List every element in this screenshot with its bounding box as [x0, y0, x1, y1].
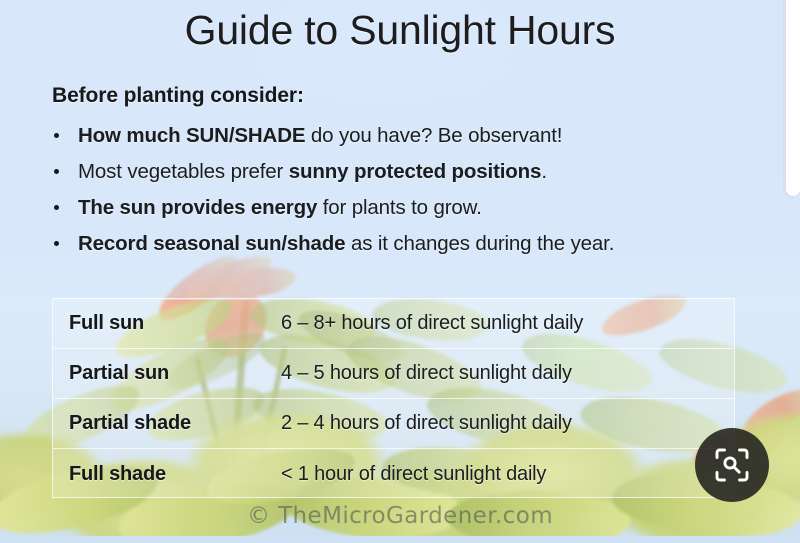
bullet-pre: Most vegetables prefer	[78, 160, 289, 183]
list-item: Record seasonal sun/shade as it changes …	[52, 226, 752, 262]
bullet-rest: do you have? Be observant!	[305, 124, 562, 147]
table-cell-label: Partial sun	[53, 362, 281, 385]
google-lens-icon	[713, 446, 751, 484]
list-item: Most vegetables prefer sunny protected p…	[52, 154, 752, 190]
background-card-sliver	[786, 0, 800, 196]
bullet-bold-lead: The sun provides energy	[78, 196, 317, 219]
bullet-bold-lead: How much SUN/SHADE	[78, 124, 305, 147]
bullet-dot-icon	[54, 133, 59, 138]
table-cell-value: 4 – 5 hours of direct sunlight daily	[281, 362, 572, 385]
bullet-mid-bold: sunny protected positions	[289, 160, 542, 183]
bullet-list: How much SUN/SHADE do you have? Be obser…	[52, 118, 752, 262]
bottom-edge-strip	[0, 536, 800, 543]
table-row: Full shade < 1 hour of direct sunlight d…	[53, 449, 734, 499]
lead-text: Before planting consider:	[52, 84, 304, 108]
bullet-rest: as it changes during the year.	[345, 232, 614, 255]
table-cell-value: < 1 hour of direct sunlight daily	[281, 463, 546, 486]
sunlight-table: Full sun 6 – 8+ hours of direct sunlight…	[52, 298, 735, 498]
table-row: Full sun 6 – 8+ hours of direct sunlight…	[53, 299, 734, 349]
bullet-dot-icon	[54, 241, 59, 246]
table-cell-label: Full shade	[53, 463, 281, 486]
table-cell-value: 6 – 8+ hours of direct sunlight daily	[281, 312, 583, 335]
watermark-credit: © TheMicroGardener.com	[0, 503, 800, 529]
screenshot-root: Guide to Sunlight Hours Before planting …	[0, 0, 800, 543]
list-item: How much SUN/SHADE do you have? Be obser…	[52, 118, 752, 154]
list-item: The sun provides energy for plants to gr…	[52, 190, 752, 226]
table-cell-label: Partial shade	[53, 412, 281, 435]
table-row: Partial sun 4 – 5 hours of direct sunlig…	[53, 349, 734, 399]
bullet-rest: for plants to grow.	[317, 196, 482, 219]
bullet-bold-lead: Record seasonal sun/shade	[78, 232, 345, 255]
table-row: Partial shade 2 – 4 hours of direct sunl…	[53, 399, 734, 449]
page-title: Guide to Sunlight Hours	[0, 6, 800, 54]
table-cell-value: 2 – 4 hours of direct sunlight daily	[281, 412, 572, 435]
table-cell-label: Full sun	[53, 312, 281, 335]
google-lens-button[interactable]	[695, 428, 769, 502]
bullet-dot-icon	[54, 205, 59, 210]
bullet-rest: .	[541, 160, 547, 183]
bullet-dot-icon	[54, 169, 59, 174]
